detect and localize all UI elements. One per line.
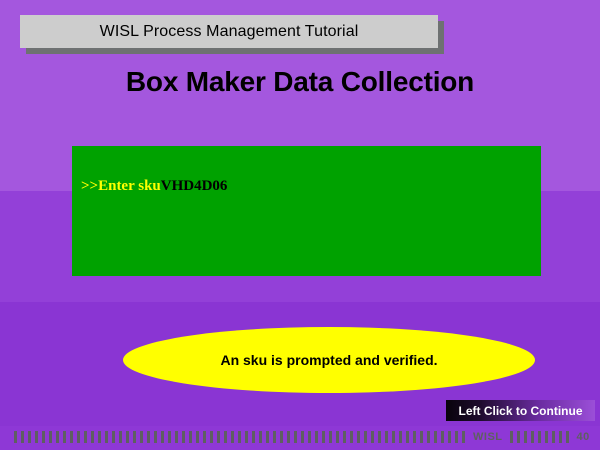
footer-spacer-2 <box>503 437 510 438</box>
continue-button-label: Left Click to Continue <box>459 404 583 418</box>
page-title: Box Maker Data Collection <box>0 66 600 98</box>
continue-button[interactable]: Left Click to Continue <box>446 400 595 421</box>
footer-word-label: WISL <box>473 431 503 443</box>
footer-redacted-middle <box>510 431 570 443</box>
footer-redacted-left <box>14 431 466 443</box>
footer-spacer-1 <box>466 437 473 438</box>
footer-number-label: 40 <box>577 431 590 443</box>
footer-spacer-3 <box>570 437 577 438</box>
header-plaque-label: WISL Process Management Tutorial <box>100 23 359 41</box>
annotation-callout-text: An sku is prompted and verified. <box>220 352 437 368</box>
terminal-screen[interactable]: >>Enter skuVHD4D06 <box>72 146 541 276</box>
terminal-prompt-label: >>Enter sku <box>81 178 161 194</box>
terminal-sku-value: VHD4D06 <box>161 178 228 194</box>
tutorial-slide: WISL Process Management Tutorial Box Mak… <box>0 0 600 450</box>
annotation-callout: An sku is prompted and verified. <box>123 327 535 393</box>
terminal-prompt-line: >>Enter skuVHD4D06 <box>81 178 227 195</box>
footer-bar: WISL 40 <box>0 430 600 444</box>
header-plaque: WISL Process Management Tutorial <box>20 15 438 48</box>
